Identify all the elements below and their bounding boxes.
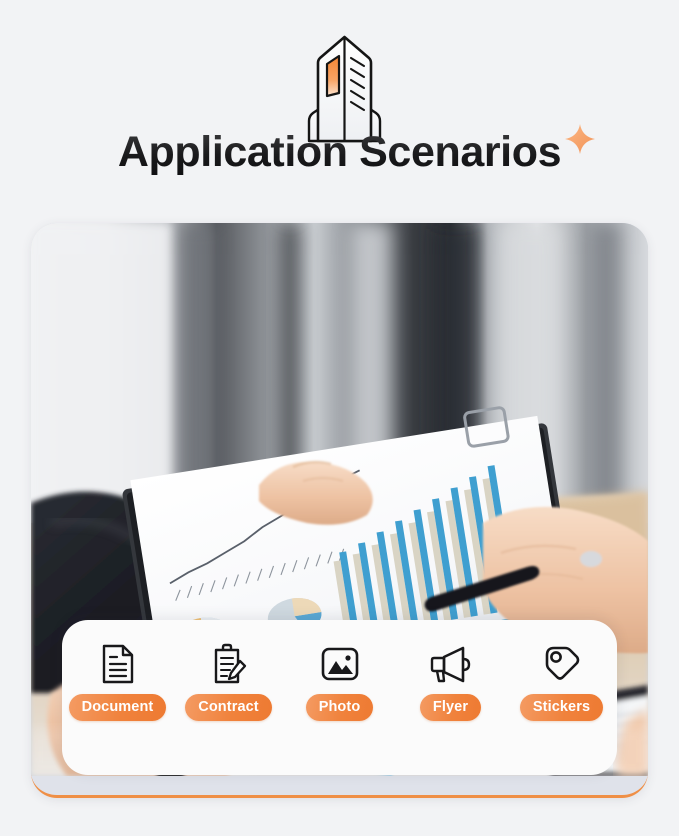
page-title: Application Scenarios bbox=[118, 130, 561, 175]
contract-clipboard-pencil-icon bbox=[208, 642, 250, 686]
badge-item-photo[interactable]: Photo bbox=[288, 642, 392, 721]
header-section: Application Scenarios bbox=[0, 0, 679, 205]
badge-label-photo[interactable]: Photo bbox=[306, 694, 374, 721]
scenario-badge-panel: Document bbox=[62, 620, 617, 775]
document-icon bbox=[97, 642, 139, 686]
badge-label-flyer[interactable]: Flyer bbox=[420, 694, 481, 721]
building-icon bbox=[287, 33, 402, 143]
sparkle-star-icon bbox=[563, 122, 597, 156]
scenario-badge-row: Document bbox=[62, 642, 617, 721]
badge-label-stickers[interactable]: Stickers bbox=[520, 694, 603, 721]
badge-item-flyer[interactable]: Flyer bbox=[399, 642, 503, 721]
photo-image-icon bbox=[319, 642, 361, 686]
megaphone-icon bbox=[430, 642, 472, 686]
scenario-card: Document bbox=[31, 223, 648, 798]
badge-label-document[interactable]: Document bbox=[69, 694, 167, 721]
badge-label-contract[interactable]: Contract bbox=[185, 694, 271, 721]
badge-item-stickers[interactable]: Stickers bbox=[510, 642, 614, 721]
badge-item-contract[interactable]: Contract bbox=[177, 642, 281, 721]
price-tag-icon bbox=[541, 642, 583, 686]
badge-item-document[interactable]: Document bbox=[66, 642, 170, 721]
page-root: Application Scenarios bbox=[0, 0, 679, 836]
